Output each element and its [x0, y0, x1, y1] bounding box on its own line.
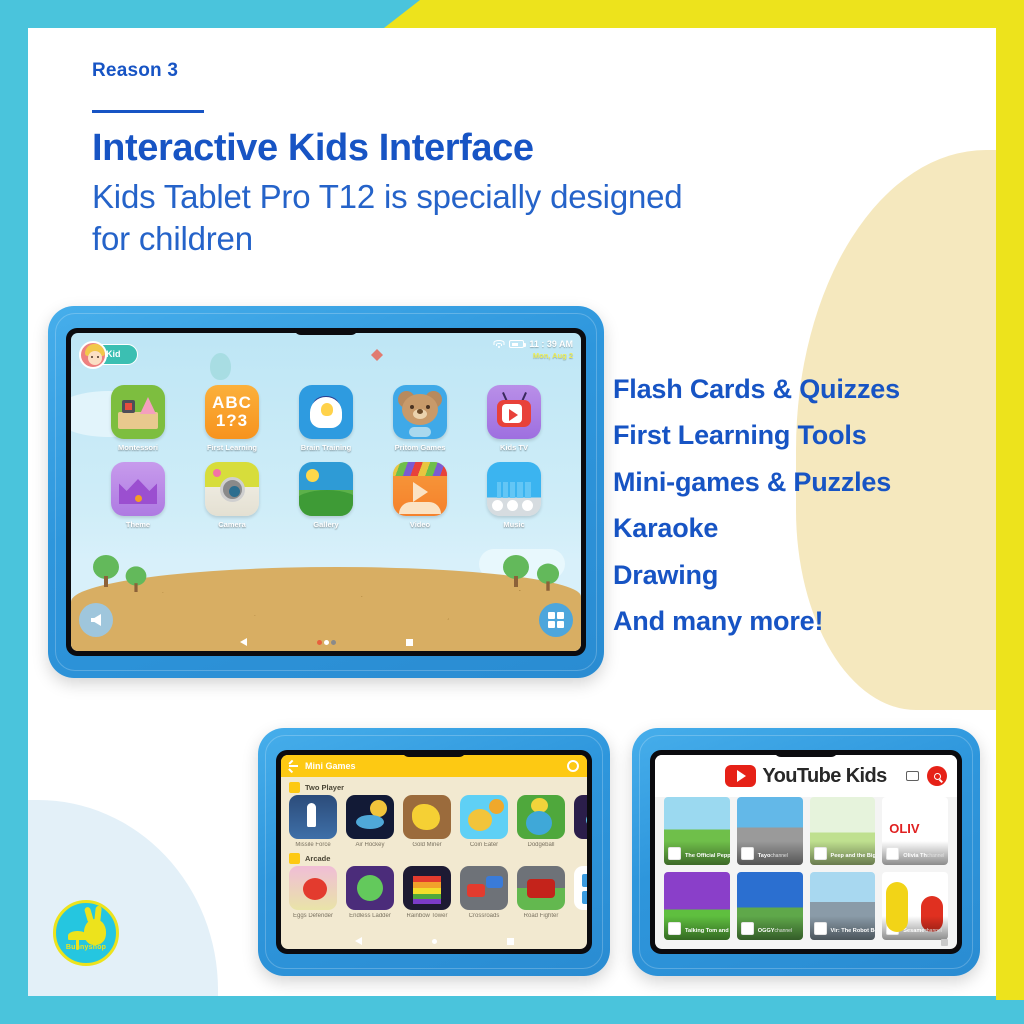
app-montessori[interactable]: Montessori [91, 385, 185, 452]
camera-notch [774, 750, 838, 757]
mini-games-screen: Mini Games Two Player Missile Force Air … [281, 755, 587, 949]
channel-avatar [886, 922, 899, 935]
system-navigation-bar [71, 635, 581, 649]
gear-icon[interactable] [567, 760, 579, 772]
feature-item: And many more! [613, 598, 993, 644]
air-hockey-icon [346, 795, 394, 839]
games-row-two-player: Missile Force Air Hockey Gold Miner Coin… [281, 795, 587, 848]
section-badge-icon [289, 782, 300, 793]
wifi-icon [493, 340, 504, 349]
app-drawer-icon[interactable] [539, 603, 573, 637]
video-card[interactable]: Olivia Thchannel [882, 797, 948, 865]
app-label: Montessori [118, 443, 158, 452]
video-title: The Official Peppa Pig [685, 853, 730, 859]
game-tile[interactable]: Crossroads [460, 866, 508, 919]
section-header-arcade: Arcade [281, 848, 587, 866]
game-tile[interactable]: Bl [574, 866, 587, 919]
tree-decoration [93, 555, 119, 589]
app-label: Video [410, 520, 430, 529]
feature-item: Flash Cards & Quizzes [613, 366, 993, 412]
title-divider [92, 110, 204, 113]
kids-tv-icon [487, 385, 541, 439]
cast-icon[interactable] [906, 771, 919, 781]
video-card[interactable]: The Official Peppa Pigchannel [664, 797, 730, 865]
blocks-icon [574, 866, 587, 910]
game-label: Dodgeball [517, 842, 565, 848]
video-card[interactable]: Sesamechannel [882, 872, 948, 940]
eyebrow-label: Reason 3 [92, 60, 712, 82]
game-tile[interactable]: Eggs Defender [289, 866, 337, 919]
user-profile-badge[interactable]: Kid [79, 341, 138, 367]
video-card[interactable]: OGGYchannel [737, 872, 803, 940]
mini-games-title: Mini Games [305, 761, 356, 771]
home-indicator[interactable] [941, 939, 948, 946]
app-kids-tv[interactable]: Kids TV [467, 385, 561, 452]
frame-border-top-yellow [384, 0, 1024, 28]
channel-avatar [814, 922, 827, 935]
battery-icon [509, 340, 524, 348]
video-title: Peep and the Big Wide World [831, 853, 876, 859]
channel-avatar [886, 847, 899, 860]
video-subtitle: channel [770, 853, 788, 859]
game-tile[interactable]: Road Fighter [517, 866, 565, 919]
youtube-play-icon [725, 765, 756, 787]
dodgeball-icon [517, 795, 565, 839]
game-label: Eggs Defender [289, 913, 337, 919]
game-tile[interactable]: Gold Miner [403, 795, 451, 848]
channel-avatar [814, 847, 827, 860]
app-label: Kids TV [500, 443, 528, 452]
app-grid: Montessori ABC 1?3 First Learning Brain … [71, 385, 581, 529]
tree-decoration [503, 555, 529, 589]
tablet-mini-games: Mini Games Two Player Missile Force Air … [258, 728, 610, 976]
video-subtitle: channel [775, 928, 793, 934]
tablet-screen-frame: Kid 11 : 39 AM Mon, Aug 2 [66, 328, 586, 656]
endless-ladder-icon [346, 866, 394, 910]
game-tile[interactable]: Air Hockey [346, 795, 394, 848]
feature-item: Mini-games & Puzzles [613, 459, 993, 505]
tablet-bezel: Kid 11 : 39 AM Mon, Aug 2 [48, 306, 604, 678]
bunny-icon [84, 919, 106, 945]
video-card[interactable]: Talking Tom and Friendschannel [664, 872, 730, 940]
channel-avatar [668, 847, 681, 860]
video-card[interactable]: Vir: The Robot Boychannel [810, 872, 876, 940]
page-indicator [317, 640, 336, 645]
feature-item: First Learning Tools [613, 412, 993, 458]
tablet-bezel: Mini Games Two Player Missile Force Air … [258, 728, 610, 976]
game-label: Missile Force [289, 842, 337, 848]
avatar [79, 341, 107, 369]
system-back-icon[interactable] [355, 937, 362, 945]
app-label: Gallery [313, 520, 338, 529]
app-label: Music [503, 520, 524, 529]
video-card[interactable]: Tayochannel [737, 797, 803, 865]
video-title: Olivia Th [903, 853, 927, 859]
headline-block: Reason 3 Interactive Kids Interface Kids… [92, 60, 712, 260]
crown-icon [111, 462, 165, 516]
video-title: Sesame [903, 928, 924, 934]
kids-home-screen: Kid 11 : 39 AM Mon, Aug 2 [71, 333, 581, 651]
rainbow-tower-icon [403, 866, 451, 910]
game-label: Bl [574, 913, 587, 919]
missile-force-icon [289, 795, 337, 839]
system-recents-icon[interactable] [406, 639, 413, 646]
channel-avatar [741, 922, 754, 935]
app-label: Camera [218, 520, 246, 529]
music-icon [487, 462, 541, 516]
decorative-blob-lightblue [28, 800, 218, 996]
crossroads-icon [460, 866, 508, 910]
games-row-arcade: Eggs Defender Endless Ladder Rainbow Tow… [281, 866, 587, 919]
eggs-defender-icon [289, 866, 337, 910]
tree-decoration [537, 564, 559, 593]
montessori-icon [111, 385, 165, 439]
game-label: Air Hockey [346, 842, 394, 848]
game-tile[interactable]: Dodgeball [517, 795, 565, 848]
video-icon [393, 462, 447, 516]
game-tile[interactable]: Missile Force [289, 795, 337, 848]
game-label: Crossroads [460, 913, 508, 919]
brand-logo: Bunnyshop [53, 900, 119, 966]
game-tile[interactable]: Endless Ladder [346, 866, 394, 919]
system-navigation-bar [281, 934, 587, 948]
status-bar: 11 : 39 AM Mon, Aug 2 [493, 339, 573, 360]
tablet-youtube-kids: YouTube Kids The Official Peppa Pigchann… [632, 728, 980, 976]
system-recents-icon[interactable] [507, 938, 514, 945]
video-subtitle: channel [927, 853, 945, 859]
camera-notch [402, 750, 466, 757]
feature-item: Karaoke [613, 505, 993, 551]
youtube-kids-screen: YouTube Kids The Official Peppa Pigchann… [655, 755, 957, 949]
back-arrow-icon[interactable] [79, 603, 113, 637]
coin-eater-icon [460, 795, 508, 839]
section-header-two-player: Two Player [281, 777, 587, 795]
balloon-decoration [210, 353, 231, 380]
status-time: 11 : 39 AM [529, 339, 573, 349]
feature-list: Flash Cards & Quizzes First Learning Too… [613, 366, 993, 645]
back-arrow-icon[interactable] [289, 765, 298, 767]
app-label: Brain Training [301, 443, 351, 452]
youtube-kids-header: YouTube Kids [655, 755, 957, 797]
game-label: Road Fighter [517, 913, 565, 919]
frame-border-left-cyan [0, 0, 28, 1024]
game-label: Rainbow Tower [403, 913, 451, 919]
section-title: Arcade [305, 854, 330, 863]
gold-miner-icon [403, 795, 451, 839]
app-video[interactable]: Video [373, 462, 467, 529]
page-subtitle: Kids Tablet Pro T12 is specially designe… [92, 176, 712, 260]
first-learning-icon: ABC 1?3 [205, 385, 259, 439]
video-title: Tayo [758, 853, 771, 859]
tree-decoration [126, 566, 147, 593]
123-text: 1?3 [216, 411, 248, 431]
app-music[interactable]: Music [467, 462, 561, 529]
skate-icon [574, 795, 587, 839]
frame-border-right-yellow [996, 0, 1024, 1000]
app-brain-training[interactable]: Brain Training [279, 385, 373, 452]
tablet-screen-frame: YouTube Kids The Official Peppa Pigchann… [650, 750, 962, 954]
video-subtitle: channel [924, 928, 942, 934]
game-label: Skate [574, 842, 587, 848]
page-title: Interactive Kids Interface [92, 127, 712, 170]
system-back-icon[interactable] [240, 638, 247, 646]
game-tile[interactable]: Coin Eater [460, 795, 508, 848]
camera-icon [205, 462, 259, 516]
video-title: OGGY [758, 928, 775, 934]
game-tile[interactable]: Rainbow Tower [403, 866, 451, 919]
app-gallery[interactable]: Gallery [279, 462, 373, 529]
feature-item: Drawing [613, 552, 993, 598]
mini-games-header: Mini Games [281, 755, 587, 777]
youtube-kids-logo: YouTube Kids [725, 765, 886, 788]
game-label: Coin Eater [460, 842, 508, 848]
tablet-screen-frame: Mini Games Two Player Missile Force Air … [276, 750, 592, 954]
app-pritom-games[interactable]: Pritom Games [373, 385, 467, 452]
gallery-icon [299, 462, 353, 516]
video-title: Vir: The Robot Boy [831, 928, 876, 934]
app-camera[interactable]: Camera [185, 462, 279, 529]
frame-border-top-cyan [0, 0, 420, 28]
brand-name: Bunnyshop [66, 944, 106, 951]
channel-avatar [741, 847, 754, 860]
frame-border-bottom-cyan [0, 996, 1024, 1024]
tablet-bezel: YouTube Kids The Official Peppa Pigchann… [632, 728, 980, 976]
app-first-learning[interactable]: ABC 1?3 First Learning [185, 385, 279, 452]
game-label: Endless Ladder [346, 913, 394, 919]
game-label: Gold Miner [403, 842, 451, 848]
video-grid: The Official Peppa Pigchannel Tayochanne… [655, 797, 957, 940]
section-badge-icon [289, 853, 300, 864]
page-indicator [432, 939, 437, 944]
video-title: Talking Tom and Friends [685, 928, 730, 934]
search-icon[interactable] [927, 766, 947, 786]
video-card[interactable]: Peep and the Big Wide Worldchannel [810, 797, 876, 865]
channel-avatar [668, 922, 681, 935]
road-fighter-icon [517, 866, 565, 910]
camera-notch [294, 328, 358, 335]
abc-text: ABC [212, 393, 252, 413]
kite-decoration [371, 349, 383, 361]
status-date: Mon, Aug 2 [493, 351, 573, 360]
brain-training-icon [299, 385, 353, 439]
app-label: First Learning [207, 443, 257, 452]
bear-icon [393, 385, 447, 439]
app-theme[interactable]: Theme [91, 462, 185, 529]
youtube-kids-wordmark: YouTube Kids [762, 765, 886, 788]
tablet-main-home: Kid 11 : 39 AM Mon, Aug 2 [48, 306, 604, 678]
app-label: Theme [126, 520, 150, 529]
app-label: Pritom Games [395, 443, 446, 452]
section-title: Two Player [305, 783, 344, 792]
game-tile[interactable]: Skate [574, 795, 587, 848]
